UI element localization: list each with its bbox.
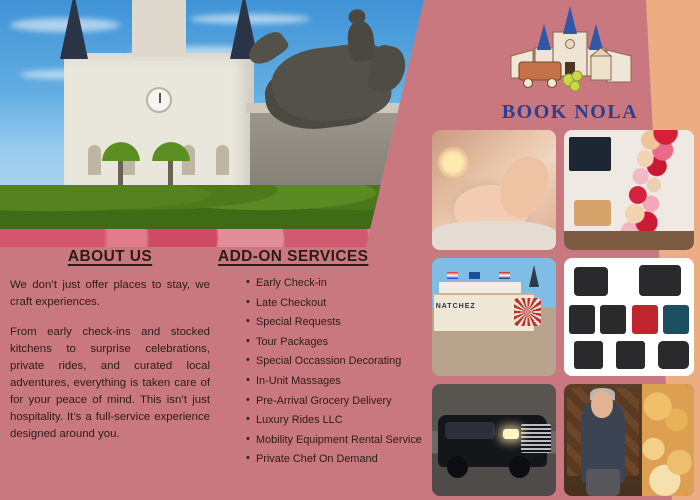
flag-icon [447,272,458,279]
rollator-icon [616,341,645,369]
about-paragraph-1: We don’t just offer places to stay, we c… [10,277,210,311]
brand-logo[interactable]: BOOK NOLA [495,4,645,124]
list-item: In-Unit Massages [246,375,423,388]
hero-image-st-louis-cathedral [0,0,424,247]
floor-shape [564,231,694,250]
list-item: Special Requests [246,316,423,329]
cathedral-left-spire [60,0,88,59]
mobility-scooter-icon [574,267,608,295]
gift-box-shape [574,200,610,226]
cathedral-window [216,145,229,175]
mobility-scooter-icon [639,265,681,296]
flag-icon [469,272,480,279]
headlight-icon [503,429,519,439]
photo-gallery: NATCHEZ [432,130,694,500]
us-flag-icon [499,272,510,279]
services-title: ADD-ON SERVICES [218,248,423,266]
blue-wheelchair-icon [663,305,689,333]
list-item: Pre-Arrival Grocery Delivery [246,395,423,408]
gallery-row [432,130,694,250]
hand-shape [493,151,555,224]
mobility-equipment-photo [564,258,694,376]
flower-bed [0,229,424,247]
boat-name-label: NATCHEZ [436,303,476,310]
services-section: ADD-ON SERVICES Early Check-in Late Chec… [218,248,423,473]
gallery-row [432,384,694,496]
hedge-row [0,185,424,233]
list-item: Special Occassion Decorating [246,355,423,368]
luxury-suv-photo [432,384,556,496]
about-title: ABOUT US [10,248,210,266]
lift-chair-icon [658,341,689,369]
cathedral-spire-background [529,265,539,287]
services-list: Early Check-in Late Checkout Special Req… [246,277,423,466]
suv-grille [521,424,551,453]
wheelchair-icon [569,305,595,333]
tv-icon [569,137,611,171]
wheelchair-icon [600,305,626,333]
list-item: Late Checkout [246,297,423,310]
chef-scene [564,384,642,496]
spa-massage-photo [432,130,556,250]
wheel-icon [509,456,530,478]
paddle-wheel [514,298,541,326]
logo-wordmark: BOOK NOLA [495,101,645,124]
cathedral-logo-icon [495,4,645,98]
about-section: ABOUT US We don’t just offer places to s… [10,248,210,456]
red-wheelchair-icon [632,305,658,333]
towel-shape [432,221,556,250]
about-paragraph-2: From early check-ins and stocked kitchen… [10,324,210,443]
stock-pot-icon [586,469,620,496]
steamboat-natchez-photo: NATCHEZ [432,258,556,376]
list-item: Luxury Rides LLC [246,414,423,427]
list-item: Early Check-in [246,277,423,290]
wheel-icon [447,456,468,478]
list-item: Tour Packages [246,336,423,349]
balloon-decoration-photo [564,130,694,250]
pasta-dish-photo [642,384,694,496]
walker-icon [574,341,603,369]
chef-head [591,391,613,418]
list-item: Private Chef On Demand [246,453,423,466]
list-item: Mobility Equipment Rental Service [246,434,423,447]
private-chef-photo [564,384,694,496]
gallery-row: NATCHEZ [432,258,694,376]
cathedral-clock [146,87,172,113]
